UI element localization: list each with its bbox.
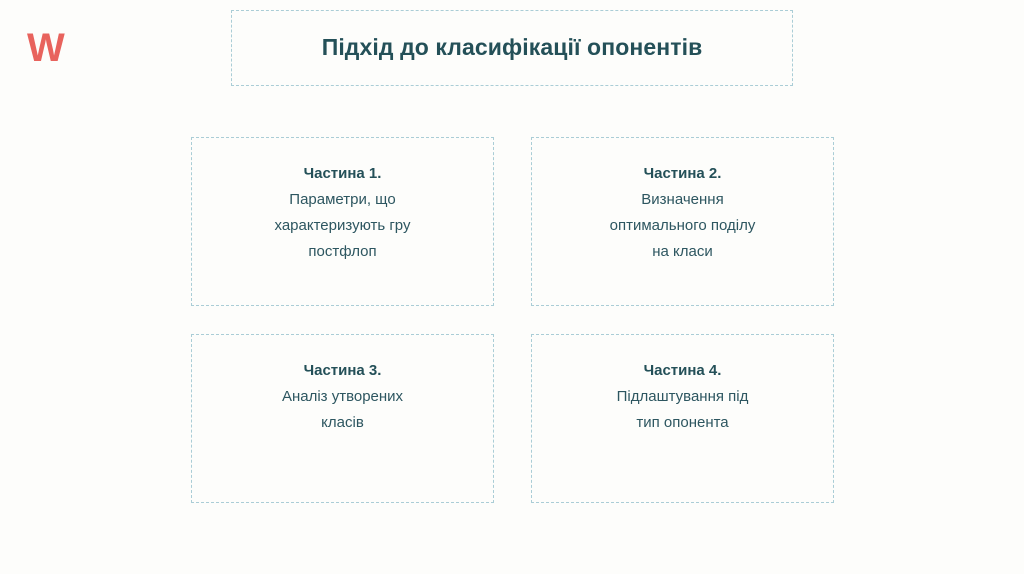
slide-canvas: W Підхід до класифікації опонентів Части… xyxy=(0,0,1024,574)
card-body-line: Підлаштування під xyxy=(617,384,749,410)
page-title: Підхід до класифікації опонентів xyxy=(322,34,703,62)
card-body: Параметри, що характеризують гру постфло… xyxy=(275,187,411,265)
card-body-line: Аналіз утворених xyxy=(282,384,403,410)
card-part-3[interactable]: Частина 3. Аналіз утворених класів xyxy=(191,334,494,503)
card-body-line: Визначення xyxy=(610,187,756,213)
card-title: Частина 3. xyxy=(304,358,382,384)
card-body-line: на класи xyxy=(610,239,756,265)
card-body-line: Параметри, що xyxy=(275,187,411,213)
card-body: Підлаштування під тип опонента xyxy=(617,384,749,436)
card-title: Частина 1. xyxy=(304,161,382,187)
brand-logo-icon: W xyxy=(27,26,77,70)
card-body-line: постфлоп xyxy=(275,239,411,265)
slide-title-box: Підхід до класифікації опонентів xyxy=(231,10,793,86)
card-body-line: оптимального поділу xyxy=(610,213,756,239)
card-body: Визначення оптимального поділу на класи xyxy=(610,187,756,265)
card-body-line: класів xyxy=(282,410,403,436)
card-title: Частина 2. xyxy=(644,161,722,187)
card-body-line: характеризують гру xyxy=(275,213,411,239)
card-part-4[interactable]: Частина 4. Підлаштування під тип опонент… xyxy=(531,334,834,503)
card-part-2[interactable]: Частина 2. Визначення оптимального поділ… xyxy=(531,137,834,306)
card-body-line: тип опонента xyxy=(617,410,749,436)
card-body: Аналіз утворених класів xyxy=(282,384,403,436)
card-title: Частина 4. xyxy=(644,358,722,384)
card-part-1[interactable]: Частина 1. Параметри, що характеризують … xyxy=(191,137,494,306)
cards-grid: Частина 1. Параметри, що характеризують … xyxy=(191,137,834,506)
